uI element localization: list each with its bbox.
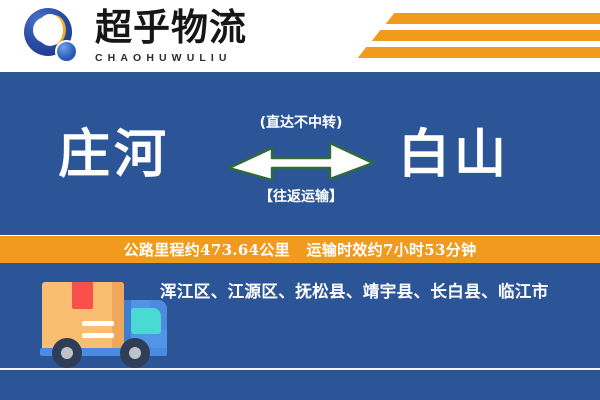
brand-text-block: 超乎物流 CHAOHUWULIU — [95, 8, 247, 65]
route-arrow-group: (直达不中转) 【往返运输】 — [225, 112, 377, 212]
delivery-truck-icon — [30, 278, 168, 368]
direct-service-caption: (直达不中转) — [225, 112, 377, 132]
road-line — [0, 368, 600, 370]
logo-small-dot — [55, 40, 78, 63]
truck-red-band — [72, 282, 93, 309]
double-headed-arrow-icon — [226, 138, 376, 184]
truck-stripe-1 — [82, 321, 114, 326]
logistics-route-banner: 超乎物流 CHAOHUWULIU 庄河 白山 (直达不中转) 【往返运输】 公路… — [0, 0, 600, 400]
distance-duration-text: 公路里程约473.64公里 运输时效约7小时53分钟 — [124, 239, 477, 260]
brand-logo-icon — [24, 8, 82, 64]
truck-cargo-shadow — [112, 282, 124, 352]
truck-front-wheel — [120, 338, 150, 368]
origin-city-label: 庄河 — [58, 124, 170, 186]
header-stripe-3 — [358, 47, 600, 58]
truck-front-hub — [129, 347, 141, 359]
distance-duration-banner: 公路里程约473.64公里 运输时效约7小时53分钟 — [0, 236, 600, 263]
round-trip-caption: 【往返运输】 — [225, 186, 377, 206]
header-bar: 超乎物流 CHAOHUWULIU — [0, 0, 600, 71]
coverage-areas-label: 浑江区、江源区、抚松县、靖宇县、长白县、临江市 — [160, 278, 549, 302]
truck-window — [131, 308, 161, 334]
header-stripe-1 — [386, 13, 600, 24]
truck-stripe-2 — [82, 333, 114, 338]
truck-rear-wheel — [52, 338, 82, 368]
header-stripe-2 — [372, 30, 600, 41]
truck-rear-hub — [61, 347, 73, 359]
brand-name-cn: 超乎物流 — [95, 8, 247, 48]
brand-name-en: CHAOHUWULIU — [95, 51, 247, 65]
destination-city-label: 白山 — [398, 124, 510, 186]
